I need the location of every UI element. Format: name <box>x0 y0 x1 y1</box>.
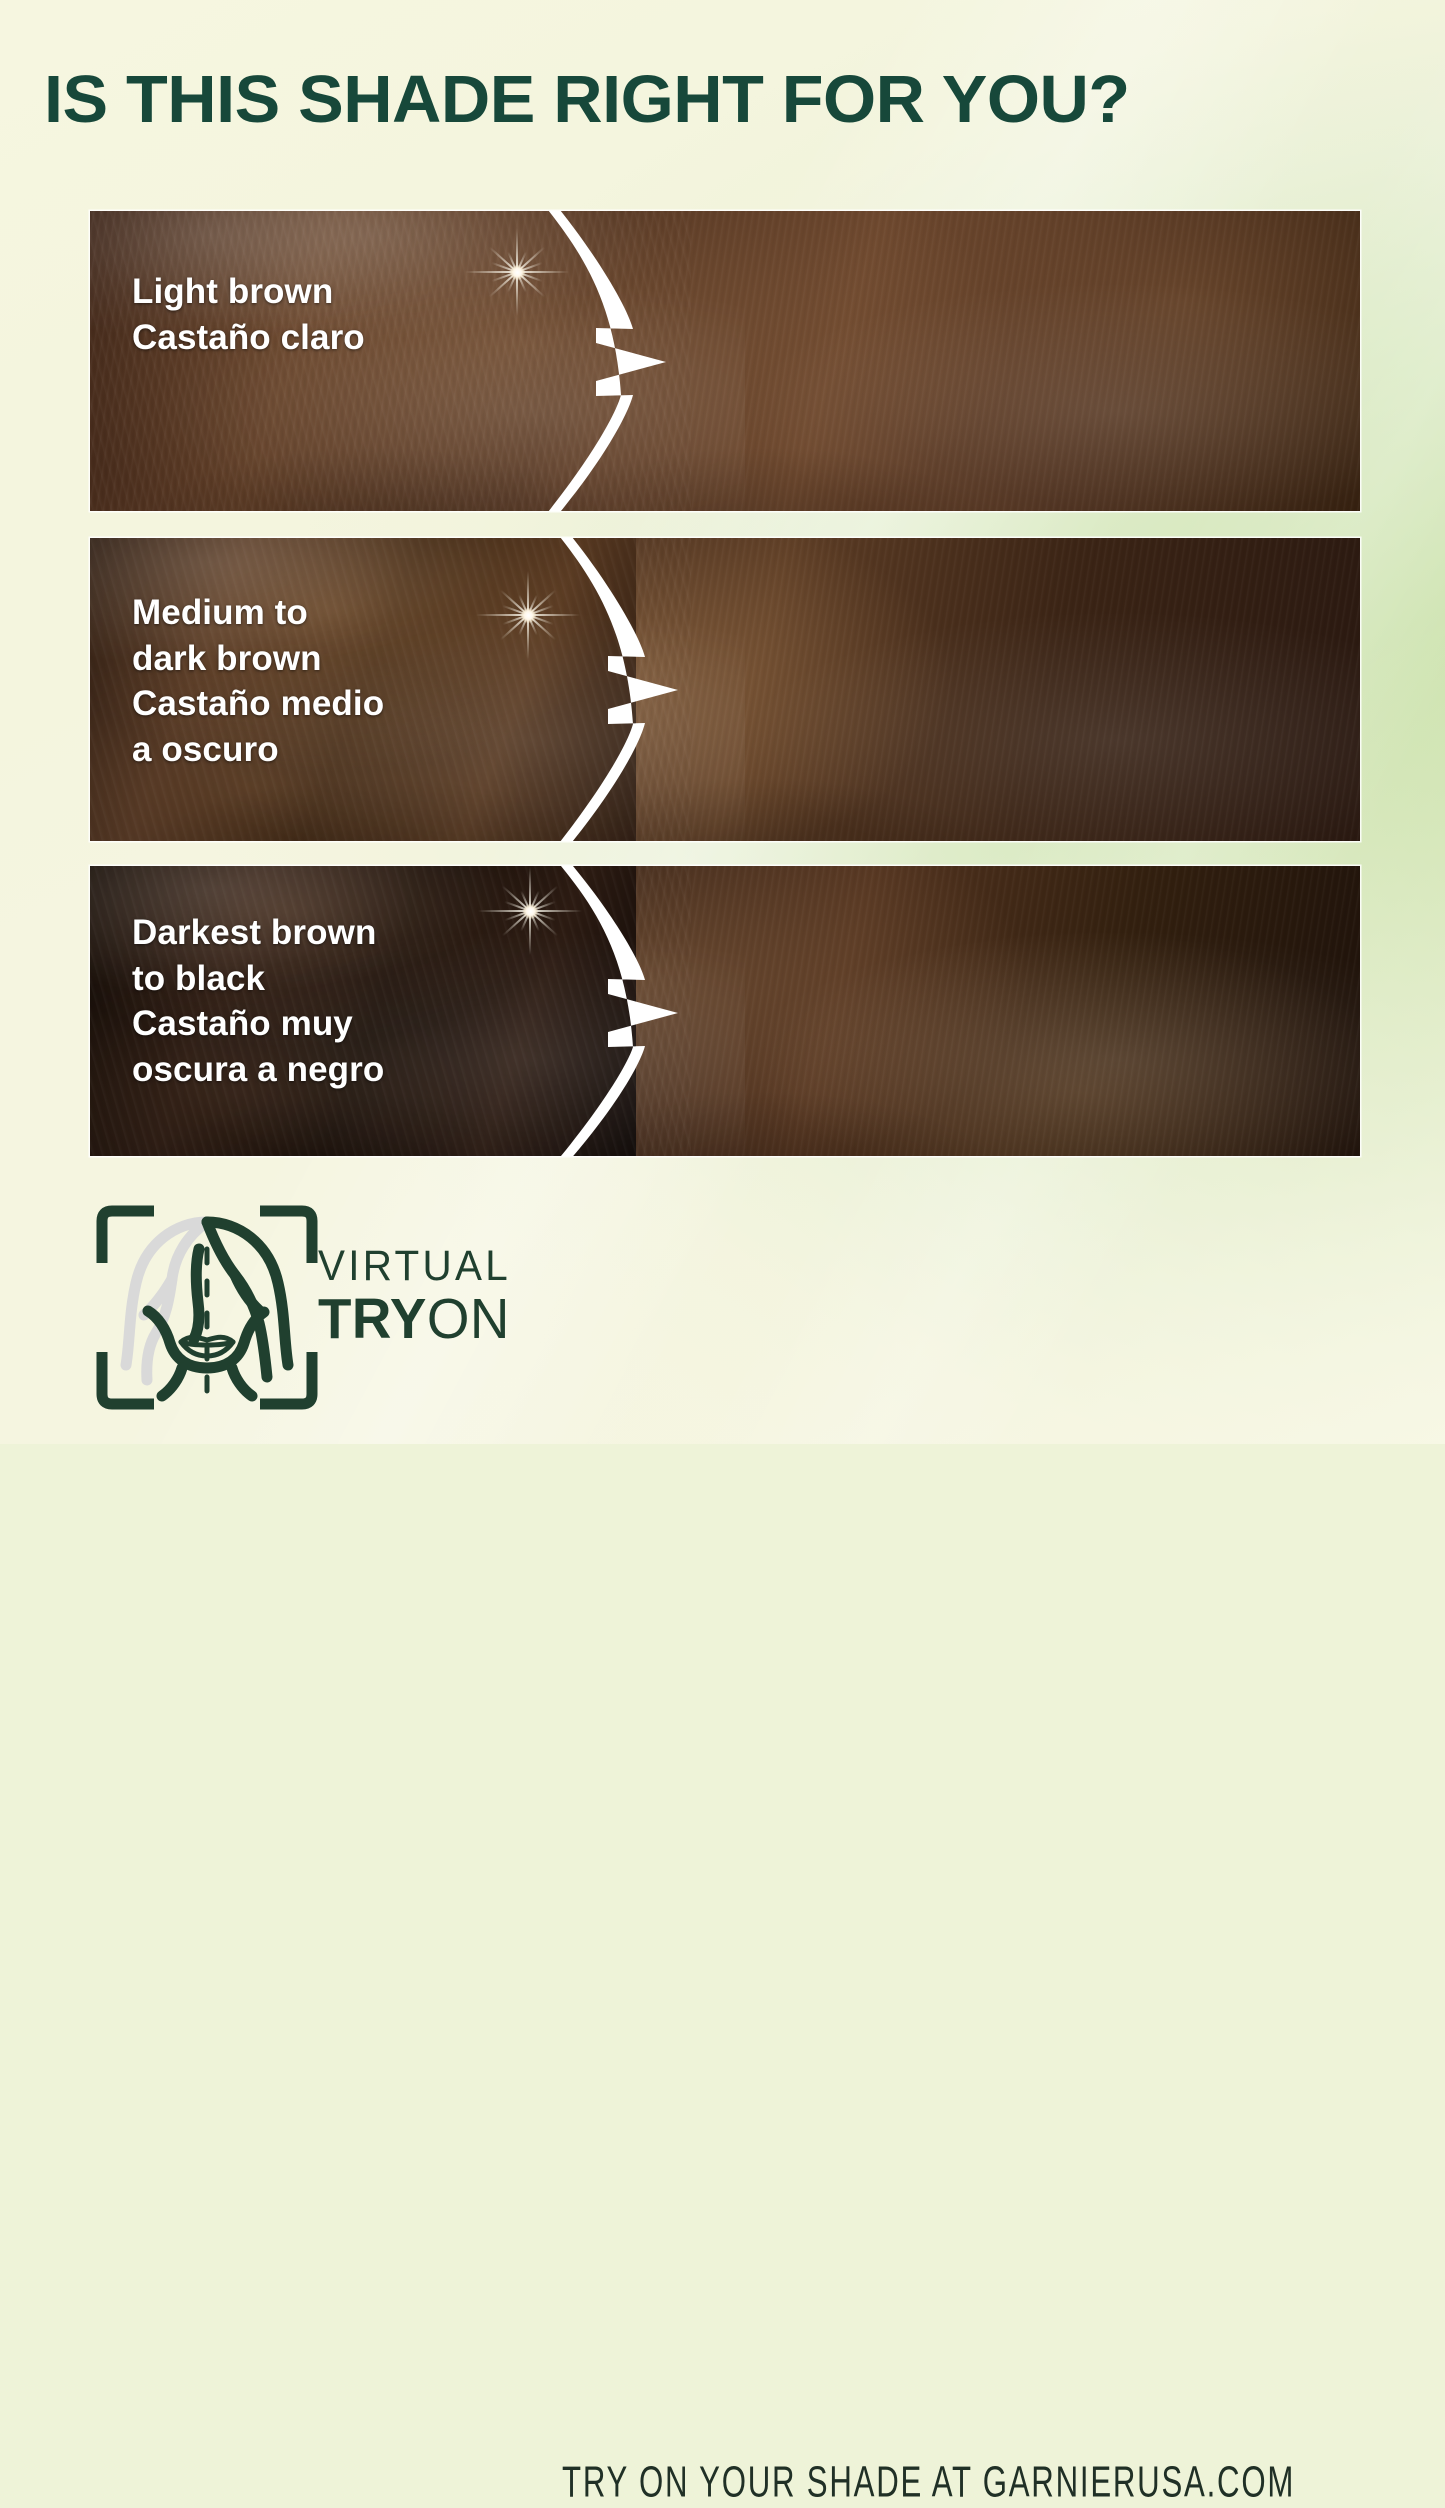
face-scan-icon[interactable] <box>96 1205 318 1410</box>
hair-wave-highlight <box>90 211 745 511</box>
wordmark-try: TRY <box>318 1287 427 1351</box>
wordmark-tryon: TRYON <box>318 1289 515 1349</box>
page-title: IS THIS SHADE RIGHT FOR YOU? <box>44 66 1441 133</box>
shade-label-light-brown: Light brown Castaño claro <box>132 269 365 360</box>
wordmark-on: ON <box>427 1287 510 1351</box>
shade-panel-light-brown[interactable]: Light brown Castaño claro <box>90 211 1360 511</box>
shade-panel-darkest-brown-to-black[interactable]: Darkest brown to black Castaño muy oscur… <box>90 866 1360 1156</box>
shade-panel-medium-to-dark-brown[interactable]: Medium to dark brown Castaño medio a osc… <box>90 538 1360 841</box>
hair-swatch-before <box>90 211 636 511</box>
shade-label-medium-to-dark-brown: Medium to dark brown Castaño medio a osc… <box>132 590 384 772</box>
footer: VIRTUAL TRYON TRY ON YOUR SHADE AT GARNI… <box>0 1185 1445 1425</box>
poster-frame: IS THIS SHADE RIGHT FOR YOU? Light brown… <box>0 0 1445 1444</box>
shade-label-darkest-brown-to-black: Darkest brown to black Castaño muy oscur… <box>132 910 384 1092</box>
wordmark-virtual: VIRTUAL <box>318 1243 511 1289</box>
tagline: TRY ON YOUR SHADE AT GARNIERUSA.COM <box>562 2458 1295 2507</box>
virtual-tryon-wordmark[interactable]: VIRTUAL TRYON <box>318 1243 523 1350</box>
